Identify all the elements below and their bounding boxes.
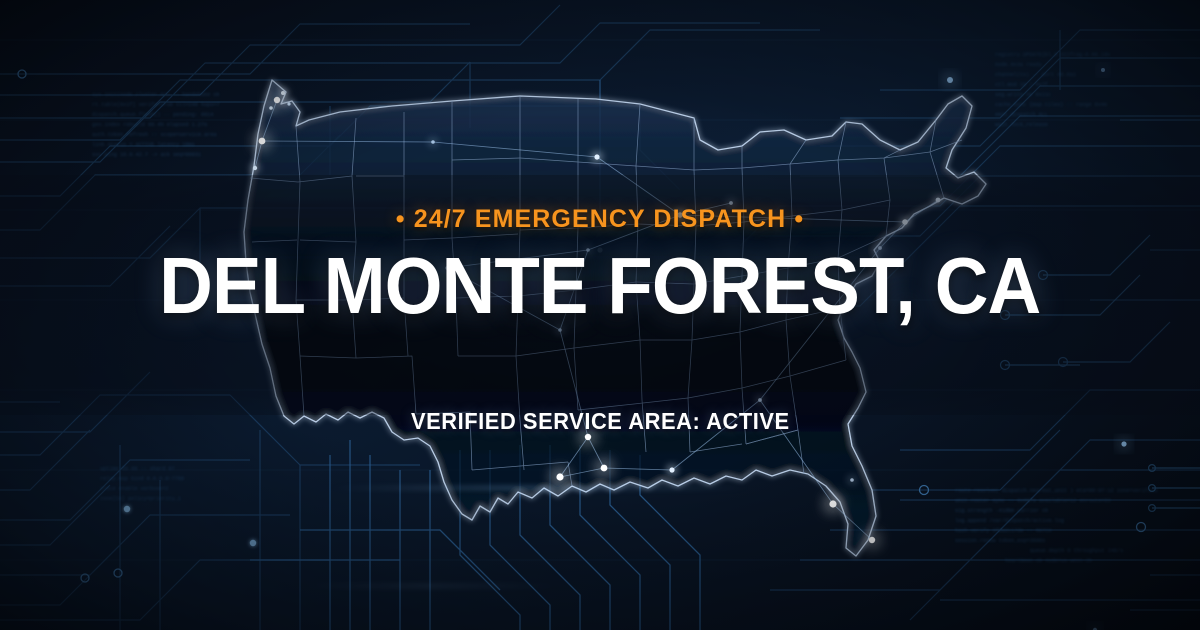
svg-text:emit.dispatch ALL: emit.dispatch ALL: [995, 112, 1048, 118]
svg-text:queue.depth 0 throughput 248: queue.depth 0 throughput 248/s: [1030, 548, 1123, 554]
code-overlay-top-right: registry.UPDATE{bl_0.32}frag-0.00_idx no…: [995, 52, 1110, 128]
svg-text:heartbeat.ok node=us-west-2b: heartbeat.ok node=us-west-2b: [1005, 558, 1092, 564]
svg-text:unit.roster sync :: 0x88fa av: unit.roster sync :: 0x88fa available=12 …: [955, 498, 1111, 504]
circuit-node-ring: [18, 70, 26, 78]
svg-text:session.renew token_exp=3600s: session.renew token_exp=3600s: [955, 538, 1045, 544]
circuit-traces-bottom-right: [770, 390, 1200, 620]
circuit-node-dot: [250, 540, 256, 546]
svg-text:channel(tx) -- port 48.0a1: channel(tx) -- port 48.0a1: [995, 72, 1076, 78]
svg-text:geo.index rebuild 99.4% elapse: geo.index rebuild 99.4% elapsed 1.27s: [92, 122, 207, 128]
svg-text:node.0x3a ready: node.0x3a ready: [995, 62, 1042, 68]
light-streak: [330, 487, 750, 489]
light-streak: [300, 585, 560, 587]
page-title: DEL MONTE FOREST, CA: [159, 246, 1040, 326]
svg-text:rt.table[0x1f] verify=true ttl: rt.table[0x1f] verify=true ttl=240 hops=…: [92, 102, 220, 108]
svg-text:dispatch.queue.flush() -- pend: dispatch.queue.flush() -- pending: 0014: [92, 112, 213, 118]
circuit-node-ring: [81, 574, 89, 582]
svg-text:sys.init(node_cluster_01) :: h: sys.init(node_cluster_01) :: handshake o…: [92, 92, 220, 98]
code-overlay-bottom-left: uptime 99.99 :: shard 07 relay.map bind …: [100, 466, 184, 502]
code-overlay-top-left: sys.init(node_cluster_01) :: handshake o…: [92, 92, 220, 158]
svg-text:link.status = ACTIVE latency: link.status = ACTIVE latency 18ms: [92, 142, 195, 148]
svg-text:relay.map bind 0.0.0.0:7788: relay.map bind 0.0.0.0:7788: [100, 476, 184, 482]
svg-text:zone[CA] policy=priority_1: zone[CA] policy=priority_1: [100, 496, 181, 502]
svg-text:hash.verify 3f9a2c17de :: MAT: hash.verify 3f9a2c17de :: MATCH: [955, 528, 1052, 534]
hero-text-block: • 24/7 EMERGENCY DISPATCH • DEL MONTE FO…: [0, 175, 1200, 415]
circuit-node-ring: [114, 569, 122, 577]
circuit-spark-node: [947, 77, 953, 83]
svg-text:ctl.mod 19 / 0x7f: ctl.mod 19 / 0x7f: [995, 82, 1048, 88]
circuit-pad-group: [1149, 465, 1200, 512]
svg-text:sig.strength -41dBm carrier o: sig.strength -41dBm carrier ok: [955, 508, 1048, 514]
circuit-bundle-bottom-center: [250, 440, 700, 630]
social-share-card: sys.init(node_cluster_01) :: handshake o…: [0, 0, 1200, 630]
svg-text:wait.lock_release: wait.lock_release: [995, 122, 1048, 128]
eyebrow-label: • 24/7 EMERGENCY DISPATCH •: [396, 205, 804, 234]
svg-text:route.resolve( dispatch.neares: route.resolve( dispatch.nearest_unit ) e…: [955, 488, 1157, 494]
svg-text:cache.sync {map.tiles} :: rang: cache.sync {map.tiles} :: range 0x4e: [995, 102, 1107, 108]
svg-text:seg.write ok 0x11c: seg.write ok 0x11c: [995, 92, 1051, 98]
circuit-spark-node: [1101, 68, 1105, 72]
svg-text:uptime 99.99 :: shard 07: uptime 99.99 :: shard 07: [100, 466, 175, 472]
svg-text:trace enable verbose=2: trace enable verbose=2: [100, 486, 169, 492]
circuit-node-dot: [124, 506, 130, 512]
svg-text:svc.ping 10.0.42.7 -> ack seq=: svc.ping 10.0.42.7 -> ack seq=00931: [92, 152, 201, 158]
svg-text:registry.UPDATE{bl_0.32}frag-0: registry.UPDATE{bl_0.32}frag-0.00_idx: [995, 52, 1110, 58]
svg-text:log.append /var/dispatch/activ: log.append /var/dispatch/active.log: [955, 518, 1064, 524]
svg-text:auth.token refresh :: scope=se: auth.token refresh :: scope=service.area: [92, 132, 217, 138]
code-overlay-bottom-right: route.resolve( dispatch.nearest_unit ) e…: [955, 488, 1157, 564]
circuit-nodes-bottom-right: [899, 441, 1146, 630]
status-badge: VERIFIED SERVICE AREA: ACTIVE: [411, 408, 790, 435]
